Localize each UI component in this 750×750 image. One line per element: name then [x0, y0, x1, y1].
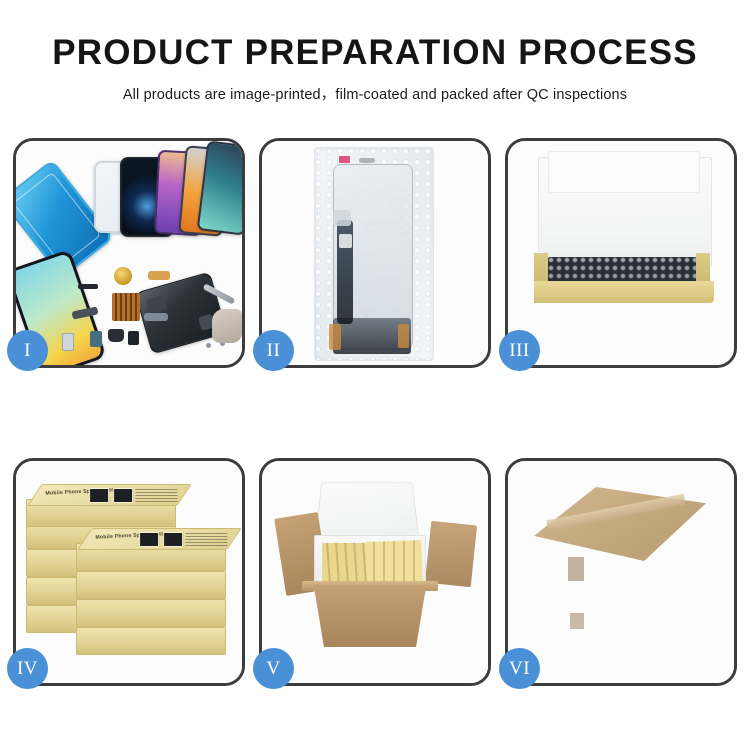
- process-step-panel-6[interactable]: VI: [505, 458, 737, 686]
- phones-and-spare-parts-illustration: [16, 141, 242, 365]
- retail-box: [76, 627, 226, 655]
- vibration-motor-part: [114, 267, 132, 285]
- step-badge-5: V: [253, 648, 294, 689]
- screen-connector: [333, 210, 351, 226]
- carton-seam-tape-top: [568, 557, 584, 581]
- connector-board-part: [112, 293, 140, 321]
- process-step-panel-5[interactable]: V: [259, 458, 491, 686]
- lid-spec-text: [135, 488, 177, 502]
- carton-right-face: [640, 557, 710, 653]
- panel-5-image: [262, 461, 488, 683]
- retail-box: [76, 571, 226, 599]
- retail-box-lid: Mobile Phone Spare Parts: [77, 528, 242, 550]
- carton-flap-right: [425, 521, 477, 587]
- screw-part-3: [206, 343, 211, 348]
- process-step-panel-3[interactable]: III: [505, 138, 737, 368]
- page-subtitle: All products are image-printed，film-coat…: [0, 83, 750, 104]
- panel-6-image: [508, 461, 734, 683]
- protective-tab-left: [329, 324, 341, 350]
- protective-tab-right: [398, 324, 409, 348]
- stacked-retail-boxes-illustration: Mobile Phone Spare Parts Mobile Phone Sp…: [16, 461, 242, 683]
- carton-seam-tape-bottom: [570, 613, 584, 629]
- process-step-panel-2[interactable]: II: [259, 138, 491, 368]
- camera-module-part: [128, 331, 139, 345]
- tray-front: [534, 281, 714, 303]
- retail-box: Mobile Phone Spare Parts: [26, 499, 176, 527]
- lid-spec-text: [185, 532, 227, 546]
- lid-window-left: [89, 488, 109, 503]
- screen-notch: [359, 158, 375, 163]
- lid-window-right: [113, 488, 133, 503]
- step-badge-6: VI: [499, 648, 540, 689]
- speaker-part: [108, 329, 124, 342]
- page-header: PRODUCT PREPARATION PROCESS All products…: [0, 34, 750, 104]
- box-stack: Mobile Phone Spare Parts Mobile Phone Sp…: [24, 475, 236, 673]
- sealed-carton-illustration: [508, 461, 734, 683]
- retail-box-lid: Mobile Phone Spare Parts: [27, 484, 192, 506]
- flex-cable-part-c: [144, 313, 168, 321]
- hand: [212, 309, 242, 343]
- process-step-panel-4[interactable]: Mobile Phone Spare Parts Mobile Phone Sp…: [13, 458, 245, 686]
- box-lid-top: [548, 151, 700, 193]
- carton-front-face: [306, 585, 434, 647]
- retail-box: [76, 599, 226, 627]
- panel-1-image: [16, 141, 242, 365]
- chip-part: [90, 331, 102, 347]
- bubble-wrapped-screen-illustration: [262, 141, 488, 365]
- bubble-wrap-bag: [314, 147, 434, 361]
- page-title: PRODUCT PREPARATION PROCESS: [0, 34, 750, 73]
- earpiece-part: [78, 284, 98, 289]
- step-badge-2: II: [253, 330, 294, 371]
- panel-4-image: Mobile Phone Spare Parts Mobile Phone Sp…: [16, 461, 242, 683]
- lid-window-left: [139, 532, 159, 547]
- retail-box: Mobile Phone Spare Parts: [76, 543, 226, 571]
- step-badge-3: III: [499, 330, 540, 371]
- yellow-boxes-row-2: [365, 540, 423, 586]
- flex-cable-part-a: [148, 271, 170, 280]
- step-badge-1: I: [7, 330, 48, 371]
- lid-window-right: [163, 532, 183, 547]
- sim-tray-part: [62, 333, 74, 351]
- qc-sticker: [339, 156, 350, 163]
- screen-driver-chip: [339, 234, 352, 248]
- process-step-panel-1[interactable]: I: [13, 138, 245, 368]
- open-kraft-box-illustration: [508, 141, 734, 365]
- panel-3-image: [508, 141, 734, 365]
- panel-2-image: [262, 141, 488, 365]
- carton-left-face: [534, 547, 644, 643]
- carton-with-foam-box-illustration: [262, 461, 488, 683]
- step-badge-4: IV: [7, 648, 48, 689]
- process-step-grid: I II: [13, 138, 737, 686]
